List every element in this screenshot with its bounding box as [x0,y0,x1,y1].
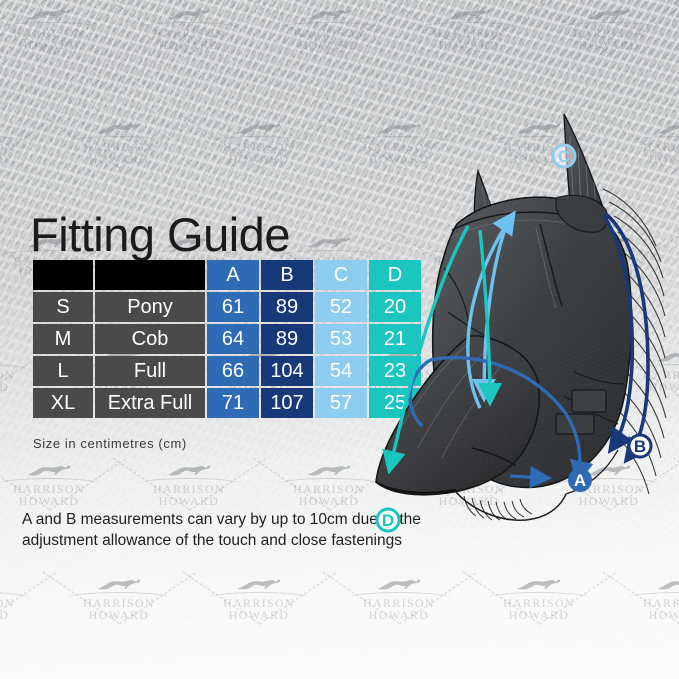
watermark-line-2: HOWARD [130,495,248,507]
marker-a-label: A [574,471,586,490]
table-cell-b: 107 [261,388,313,418]
horse-logo-icon [60,578,178,591]
watermark: HARRISONHOWARD [340,578,458,621]
watermark: HARRISONHOWARD [200,122,318,165]
table-cell-name: Cob [95,324,205,354]
marker-c-label: C [558,147,570,166]
horse-head-illustration: C B A D [360,96,679,556]
watermark: HARRISONHOWARD [0,8,108,51]
watermark-line-2: HOWARD [550,39,668,51]
marker-d: D [377,509,399,531]
table-cell-size: L [33,356,93,386]
horse-logo-icon [200,122,318,135]
table-header-cell: B [261,260,313,290]
table-cell-a: 66 [207,356,259,386]
watermark-line-2: HOWARD [620,609,679,621]
watermark: HARRISONHOWARD [550,8,668,51]
watermark: HARRISONHOWARD [60,578,178,621]
table-header-cell: A [207,260,259,290]
table-cell-b: 89 [261,292,313,322]
table-cell-name: Extra Full [95,388,205,418]
horse-logo-icon [550,8,668,21]
muzzle-whiskers [464,496,532,520]
page-title: Fitting Guide [30,207,290,262]
table-cell-name: Full [95,356,205,386]
horse-logo-icon [340,578,458,591]
horse-logo-icon [480,578,598,591]
table-cell-size: XL [33,388,93,418]
watermark: HARRISONHOWARD [270,8,388,51]
fitting-guide-image: HARRISONHOWARDHARRISONHOWARDHARRISONHOWA… [0,0,679,679]
fastening-tab-upper [572,390,606,412]
table-cell-a: 61 [207,292,259,322]
horse-logo-icon [130,8,248,21]
watermark-line-2: HOWARD [340,609,458,621]
watermark: HARRISONHOWARD [60,122,178,165]
marker-b-label: B [634,437,646,456]
watermark-line-2: HOWARD [270,39,388,51]
horse-logo-icon [130,464,248,477]
horse-logo-icon [0,8,108,21]
watermark: HARRISONHOWARD [130,464,248,507]
watermark-line-2: HOWARD [200,153,318,165]
watermark-line-2: HOWARD [480,609,598,621]
watermark-line-2: HOWARD [200,609,318,621]
horse-logo-icon [200,578,318,591]
table-cell-b: 89 [261,324,313,354]
watermark-line-2: HOWARD [0,153,38,165]
table-cell-b: 104 [261,356,313,386]
horse-logo-icon [0,464,108,477]
horse-logo-icon [410,8,528,21]
table-cell-name: Pony [95,292,205,322]
marker-a: A [568,468,592,492]
table-cell-size: M [33,324,93,354]
table-cell-a: 64 [207,324,259,354]
marker-b: B [629,435,651,457]
watermark-line-2: HOWARD [410,39,528,51]
table-cell-a: 71 [207,388,259,418]
table-header-cell [33,260,93,290]
watermark: HARRISONHOWARD [0,464,108,507]
watermark: HARRISONHOWARD [0,578,38,621]
watermark-line-2: HOWARD [60,153,178,165]
horse-logo-icon [60,122,178,135]
watermark: HARRISONHOWARD [0,122,38,165]
watermark-line-2: HOWARD [60,609,178,621]
watermark: HARRISONHOWARD [620,578,679,621]
unit-note: Size in centimetres (cm) [33,436,187,451]
watermark: HARRISONHOWARD [410,8,528,51]
table-cell-size: S [33,292,93,322]
watermark: HARRISONHOWARD [130,8,248,51]
horse-logo-icon [270,8,388,21]
table-header-cell [95,260,205,290]
marker-c: C [553,145,575,167]
watermark: HARRISONHOWARD [480,578,598,621]
watermark-line-2: HOWARD [130,39,248,51]
watermark: HARRISONHOWARD [200,578,318,621]
marker-d-label: D [382,511,394,530]
watermark-line-2: HOWARD [0,609,38,621]
